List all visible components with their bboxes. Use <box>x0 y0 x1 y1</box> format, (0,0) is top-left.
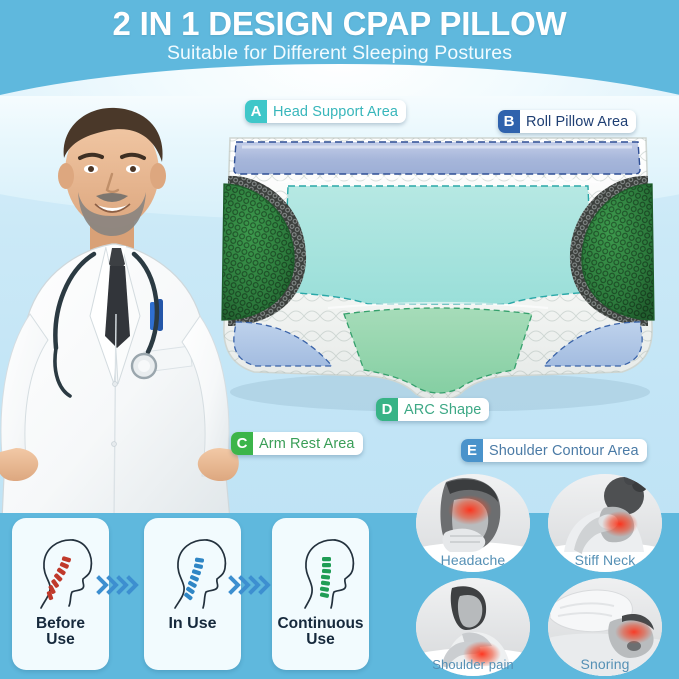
infographic-root: 2 IN 1 DESIGN CPAP PILLOW Suitable for D… <box>0 0 679 679</box>
symptom-shoulder-pain[interactable]: Shoulder pain <box>416 578 530 676</box>
symptom-headache[interactable]: Headache <box>416 474 530 572</box>
callout-label-c: Arm Rest Area <box>253 432 363 455</box>
head-profile-green-spine-icon <box>279 530 363 614</box>
head-profile-blue-spine-icon <box>151 530 235 614</box>
posture-card-before-use[interactable]: Before Use <box>12 518 109 670</box>
posture-card-label-2: Continuous Use <box>275 616 365 649</box>
callout-c-arm-rest[interactable]: C Arm Rest Area <box>231 432 363 455</box>
posture-card-label-1: In Use <box>166 616 218 633</box>
page-title: 2 IN 1 DESIGN CPAP PILLOW <box>0 5 679 43</box>
header-banner: 2 IN 1 DESIGN CPAP PILLOW Suitable for D… <box>0 0 679 96</box>
symptom-label-stiff-neck: Stiff Neck <box>548 552 662 568</box>
symptom-label-snoring: Snoring <box>548 656 662 672</box>
callout-label-a: Head Support Area <box>267 100 406 123</box>
callout-e-shoulder-contour[interactable]: E Shoulder Contour Area <box>461 439 647 462</box>
progress-arrows-1-icon <box>96 574 140 596</box>
head-profile-red-spine-icon <box>19 530 103 614</box>
pillow-zone-roll <box>234 142 640 174</box>
progress-arrows-2-icon <box>228 574 272 596</box>
page-subtitle: Suitable for Different Sleeping Postures <box>0 42 679 65</box>
callout-label-d: ARC Shape <box>398 398 489 421</box>
callout-badge-c: C <box>231 432 253 455</box>
posture-card-continuous-use[interactable]: Continuous Use <box>272 518 369 670</box>
symptom-snoring[interactable]: Snoring <box>548 578 662 676</box>
callout-badge-e: E <box>461 439 483 462</box>
symptom-label-headache: Headache <box>416 552 530 568</box>
callout-b-roll-pillow[interactable]: B Roll Pillow Area <box>498 110 636 133</box>
symptom-label-shoulder-pain: Shoulder pain <box>416 657 530 672</box>
cpap-pillow-diagram <box>208 126 668 411</box>
callout-label-b: Roll Pillow Area <box>520 110 636 133</box>
posture-card-label-0: Before Use <box>34 616 87 649</box>
callout-a-head-support[interactable]: A Head Support Area <box>245 100 406 123</box>
pillow-zone-head-support <box>284 186 592 304</box>
symptom-stiff-neck[interactable]: Stiff Neck <box>548 474 662 572</box>
callout-label-e: Shoulder Contour Area <box>483 439 647 462</box>
posture-card-in-use[interactable]: In Use <box>144 518 241 670</box>
callout-badge-d: D <box>376 398 398 421</box>
callout-badge-b: B <box>498 110 520 133</box>
doctor-photo <box>0 84 244 520</box>
symptom-grid: Headache <box>408 474 679 679</box>
callout-badge-a: A <box>245 100 267 123</box>
posture-progress-group: Before Use In Use <box>0 518 400 676</box>
callout-d-arc-shape[interactable]: D ARC Shape <box>376 398 489 421</box>
